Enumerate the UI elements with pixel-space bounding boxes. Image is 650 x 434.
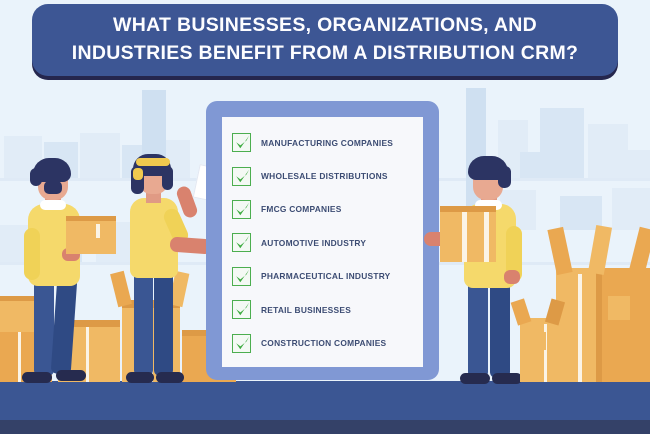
checklist-item[interactable]: CONSTRUCTION COMPANIES [232, 326, 427, 359]
page-title-line-2: INDUSTRIES BENEFIT FROM A DISTRIBUTION C… [72, 42, 579, 64]
shelf-box [80, 133, 120, 178]
checkbox-checked-icon[interactable] [232, 300, 251, 319]
checklist-item-label: AUTOMOTIVE INDUSTRY [261, 238, 366, 248]
page-title-line-1: WHAT BUSINESSES, ORGANIZATIONS, AND [113, 14, 537, 36]
checkbox-checked-icon[interactable] [232, 267, 251, 286]
checklist-item-label: FMCG COMPANIES [261, 204, 342, 214]
shelf-box [520, 152, 558, 178]
checklist-item-label: MANUFACTURING COMPANIES [261, 138, 393, 148]
infographic-canvas: MANUFACTURING COMPANIESWHOLESALE DISTRIB… [0, 0, 650, 434]
checklist-item[interactable]: WHOLESALE DISTRIBUTIONS [232, 159, 427, 192]
checklist: MANUFACTURING COMPANIESWHOLESALE DISTRIB… [232, 126, 427, 360]
checkbox-checked-icon[interactable] [232, 167, 251, 186]
checkbox-checked-icon[interactable] [232, 233, 251, 252]
checklist-item[interactable]: MANUFACTURING COMPANIES [232, 126, 427, 159]
checkbox-checked-icon[interactable] [232, 334, 251, 353]
checklist-item[interactable]: PHARMACEUTICAL INDUSTRY [232, 260, 427, 293]
checkbox-checked-icon[interactable] [232, 133, 251, 152]
shelf-box [602, 150, 650, 178]
checkbox-checked-icon[interactable] [232, 200, 251, 219]
checklist-item-label: WHOLESALE DISTRIBUTIONS [261, 171, 388, 181]
header-banner: WHAT BUSINESSES, ORGANIZATIONS, AND INDU… [32, 4, 618, 76]
checklist-item-label: RETAIL BUSINESSES [261, 305, 351, 315]
checklist-item-label: CONSTRUCTION COMPANIES [261, 338, 386, 348]
checklist-item[interactable]: AUTOMOTIVE INDUSTRY [232, 226, 427, 259]
shelf-box [612, 188, 650, 230]
floor-shadow-band [0, 420, 650, 434]
checklist-item[interactable]: RETAIL BUSINESSES [232, 293, 427, 326]
page-title: WHAT BUSINESSES, ORGANIZATIONS, AND INDU… [45, 12, 605, 67]
checklist-item-label: PHARMACEUTICAL INDUSTRY [261, 271, 391, 281]
checklist-item[interactable]: FMCG COMPANIES [232, 193, 427, 226]
